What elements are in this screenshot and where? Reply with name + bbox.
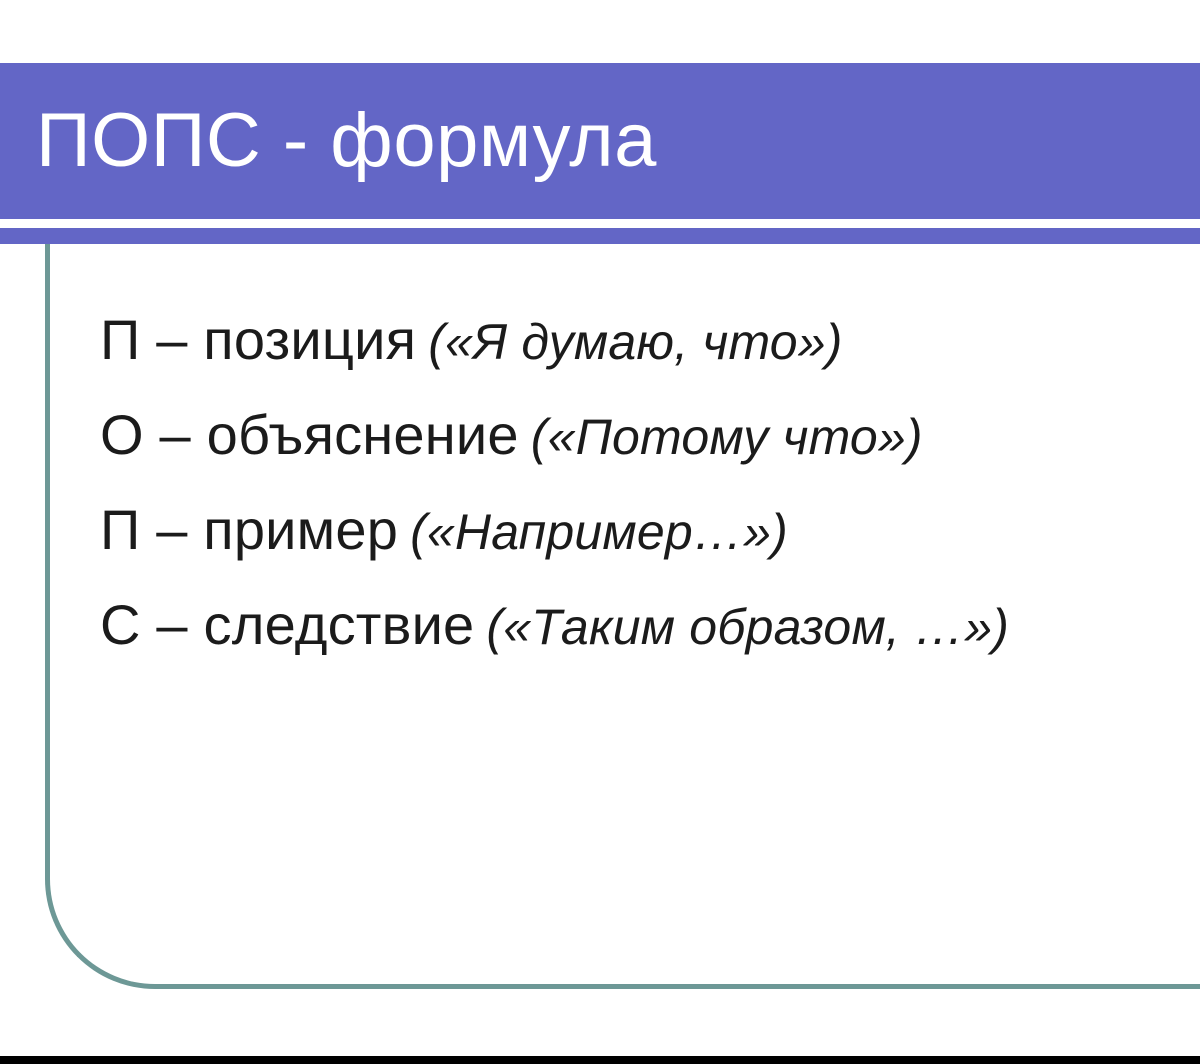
- list-item: О – объяснение(«Потому что»): [100, 387, 1170, 482]
- list-item-term: П – позиция: [100, 308, 416, 371]
- list-item-gloss: («Я думаю, что»): [428, 314, 842, 370]
- title-banner: ПОПС - формула: [0, 63, 1200, 219]
- list-item-term: С – следствие: [100, 593, 474, 656]
- list-item-gloss: («Например…»): [410, 504, 788, 560]
- list-item-term: О – объяснение: [100, 403, 519, 466]
- list-item: П – позиция(«Я думаю, что»): [100, 292, 1170, 387]
- slide-canvas: ПОПС - формула П – позиция(«Я думаю, что…: [0, 0, 1200, 1064]
- list-item-gloss: («Потому что»): [531, 409, 923, 465]
- list-item-gloss: («Таким образом, …»): [486, 599, 1009, 655]
- formula-list: П – позиция(«Я думаю, что») О – объяснен…: [100, 292, 1170, 672]
- list-item: П – пример(«Например…»): [100, 482, 1170, 577]
- bottom-edge-strip: [0, 1056, 1200, 1064]
- banner-gap-divider: [0, 219, 1200, 228]
- banner-underline-strip: [0, 228, 1200, 244]
- page-title: ПОПС - формула: [0, 101, 657, 181]
- list-item-term: П – пример: [100, 498, 398, 561]
- list-item: С – следствие(«Таким образом, …»): [100, 577, 1170, 672]
